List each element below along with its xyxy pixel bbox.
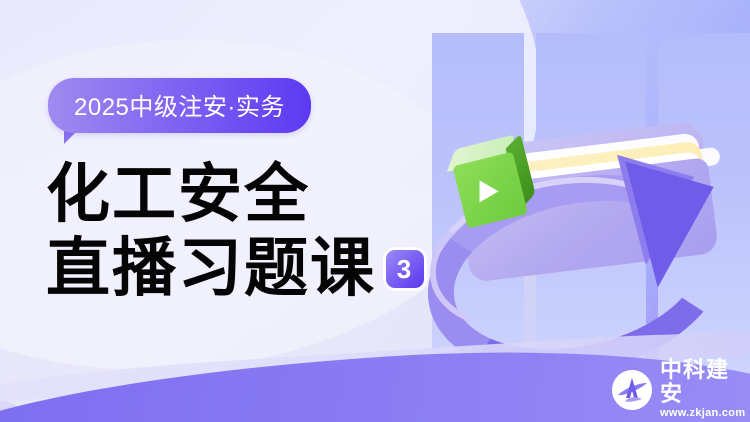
play-icon [480,180,499,202]
brand-logo: 中科建安 www.zkjan.com [612,358,750,421]
title-line-one-wrap: 化工安全 [46,158,466,232]
title-line-two: 直播习题课 [46,232,376,306]
brand-logo-text: 中科建安 www.zkjan.com [660,358,750,421]
title-line-one: 化工安全 [46,157,310,232]
brand-name: 中科建安 [660,358,750,406]
course-banner: 2025中级注安·实务 化工安全 直播习题课 3 中科建安 www.zkjan.… [0,0,750,422]
episode-number-badge: 3 [386,250,424,288]
brand-website: www.zkjan.com [660,406,750,421]
page-title: 化工安全 直播习题课 3 [46,158,466,306]
course-badge-label: 2025中级注安·实务 [74,94,285,121]
zkjan-circle-logo-icon [612,370,652,410]
title-line-two-wrap: 直播习题课 3 [46,232,466,306]
course-badge: 2025中级注安·实务 [48,78,311,133]
